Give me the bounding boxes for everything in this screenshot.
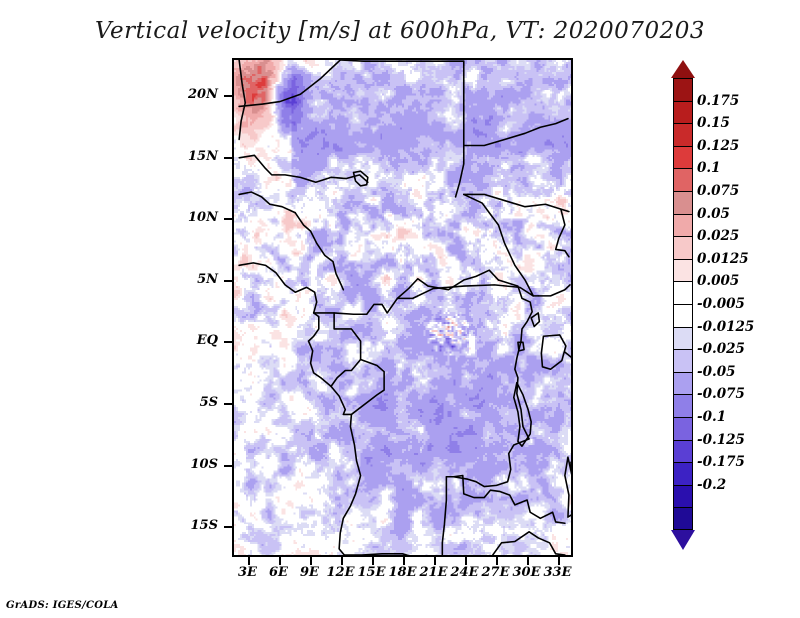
colorbar-tick-label: -0.125 [697, 432, 745, 448]
map-borders-overlay [234, 60, 571, 555]
border-path [351, 359, 384, 414]
colorbar-tick-label: 0.15 [697, 115, 730, 131]
latitude-tick [224, 526, 232, 528]
longitude-tick [558, 557, 560, 565]
longitude-tick [248, 557, 250, 565]
border-path [314, 313, 367, 314]
colorbar-segment [673, 191, 693, 214]
border-path [295, 213, 343, 290]
border-path [538, 285, 570, 296]
latitude-tick [224, 95, 232, 97]
colorbar-segment [673, 214, 693, 237]
border-path [239, 60, 340, 106]
colorbar-tick-label: 0.0125 [697, 251, 749, 267]
border-path [556, 209, 569, 257]
latitude-tick [224, 218, 232, 220]
latitude-tick [224, 157, 232, 159]
colorbar-tick-label: -0.05 [697, 364, 735, 380]
colorbar-segment [673, 507, 693, 530]
border-path [442, 477, 446, 555]
colorbar-bottom-arrow [671, 530, 695, 550]
border-path [454, 476, 565, 524]
latitude-tick-label: 10N [188, 210, 218, 225]
latitude-tick-label: 5N [197, 272, 218, 287]
colorbar-tick-label: 0.1 [697, 160, 721, 176]
colorbar-tick-label: 0.125 [697, 138, 739, 154]
latitude-tick-label: 15N [188, 149, 218, 164]
latitude-tick-label: 15S [191, 518, 218, 533]
border-path [464, 119, 568, 146]
colorbar-segment [673, 327, 693, 350]
colorbar-segment [673, 417, 693, 440]
border-path [446, 280, 532, 487]
border-path [565, 457, 571, 517]
longitude-tick [434, 557, 436, 565]
colorbar-segment [673, 485, 693, 508]
colorbar-segment [673, 259, 693, 282]
colorbar-tick-label: -0.1 [697, 409, 726, 425]
colorbar-tick-label: -0.075 [697, 386, 745, 402]
latitude-tick-label: 5S [200, 395, 218, 410]
colorbar-tick-label: -0.025 [697, 341, 745, 357]
longitude-tick-label: 33E [538, 565, 578, 580]
colorbar-tick-label: 0.075 [697, 183, 739, 199]
colorbar-tick-label: -0.0125 [697, 319, 754, 335]
colorbar-segment [673, 123, 693, 146]
colorbar-tick-label: 0.005 [697, 273, 739, 289]
colorbar [673, 78, 693, 530]
colorbar-segment [673, 101, 693, 124]
colorbar-segment [673, 462, 693, 485]
longitude-tick [465, 557, 467, 565]
attribution-footer: GrADS: IGES/COLA [6, 600, 119, 611]
colorbar-segment [673, 304, 693, 327]
page-title: Vertical velocity [m/s] at 600hPa, VT: 2… [0, 18, 800, 44]
latitude-tick-label: 20N [188, 87, 218, 102]
colorbar-tick-label: -0.2 [697, 477, 726, 493]
border-path [541, 335, 566, 369]
colorbar-tick-label: 0.05 [697, 206, 730, 222]
border-path [239, 263, 351, 415]
latitude-tick-label: 10S [191, 457, 218, 472]
border-path [344, 554, 458, 555]
colorbar-tick-label: 0.175 [697, 93, 739, 109]
latitude-tick-label: EQ [197, 333, 218, 348]
border-path [339, 414, 360, 555]
colorbar-segment [673, 372, 693, 395]
latitude-tick [224, 403, 232, 405]
colorbar-tick-label: -0.005 [697, 296, 745, 312]
colorbar-tick-label: -0.175 [697, 454, 745, 470]
border-path [367, 270, 499, 314]
border-path [456, 61, 464, 197]
longitude-tick [341, 557, 343, 565]
colorbar-segment [673, 146, 693, 169]
border-path [331, 313, 361, 386]
border-path [239, 60, 245, 139]
border-path [340, 60, 464, 61]
border-path [239, 192, 295, 213]
longitude-tick [527, 557, 529, 565]
longitude-tick [372, 557, 374, 565]
latitude-tick [224, 341, 232, 343]
map-plot-area [232, 58, 573, 557]
colorbar-tick-label: 0.025 [697, 228, 739, 244]
border-path [397, 285, 538, 298]
colorbar-segment [673, 394, 693, 417]
border-path [565, 352, 571, 357]
colorbar-segment [673, 168, 693, 191]
longitude-tick [310, 557, 312, 565]
colorbar-segment [673, 78, 693, 101]
colorbar-top-arrow [671, 60, 695, 78]
border-path [239, 155, 368, 182]
longitude-tick [403, 557, 405, 565]
latitude-tick [224, 280, 232, 282]
border-path [353, 171, 367, 186]
longitude-tick [496, 557, 498, 565]
latitude-tick [224, 465, 232, 467]
longitude-tick [279, 557, 281, 565]
colorbar-segment [673, 281, 693, 304]
border-path [476, 532, 565, 555]
colorbar-segment [673, 440, 693, 463]
colorbar-segment [673, 236, 693, 259]
border-path [531, 313, 539, 326]
colorbar-segment [673, 349, 693, 372]
border-path [464, 194, 569, 211]
